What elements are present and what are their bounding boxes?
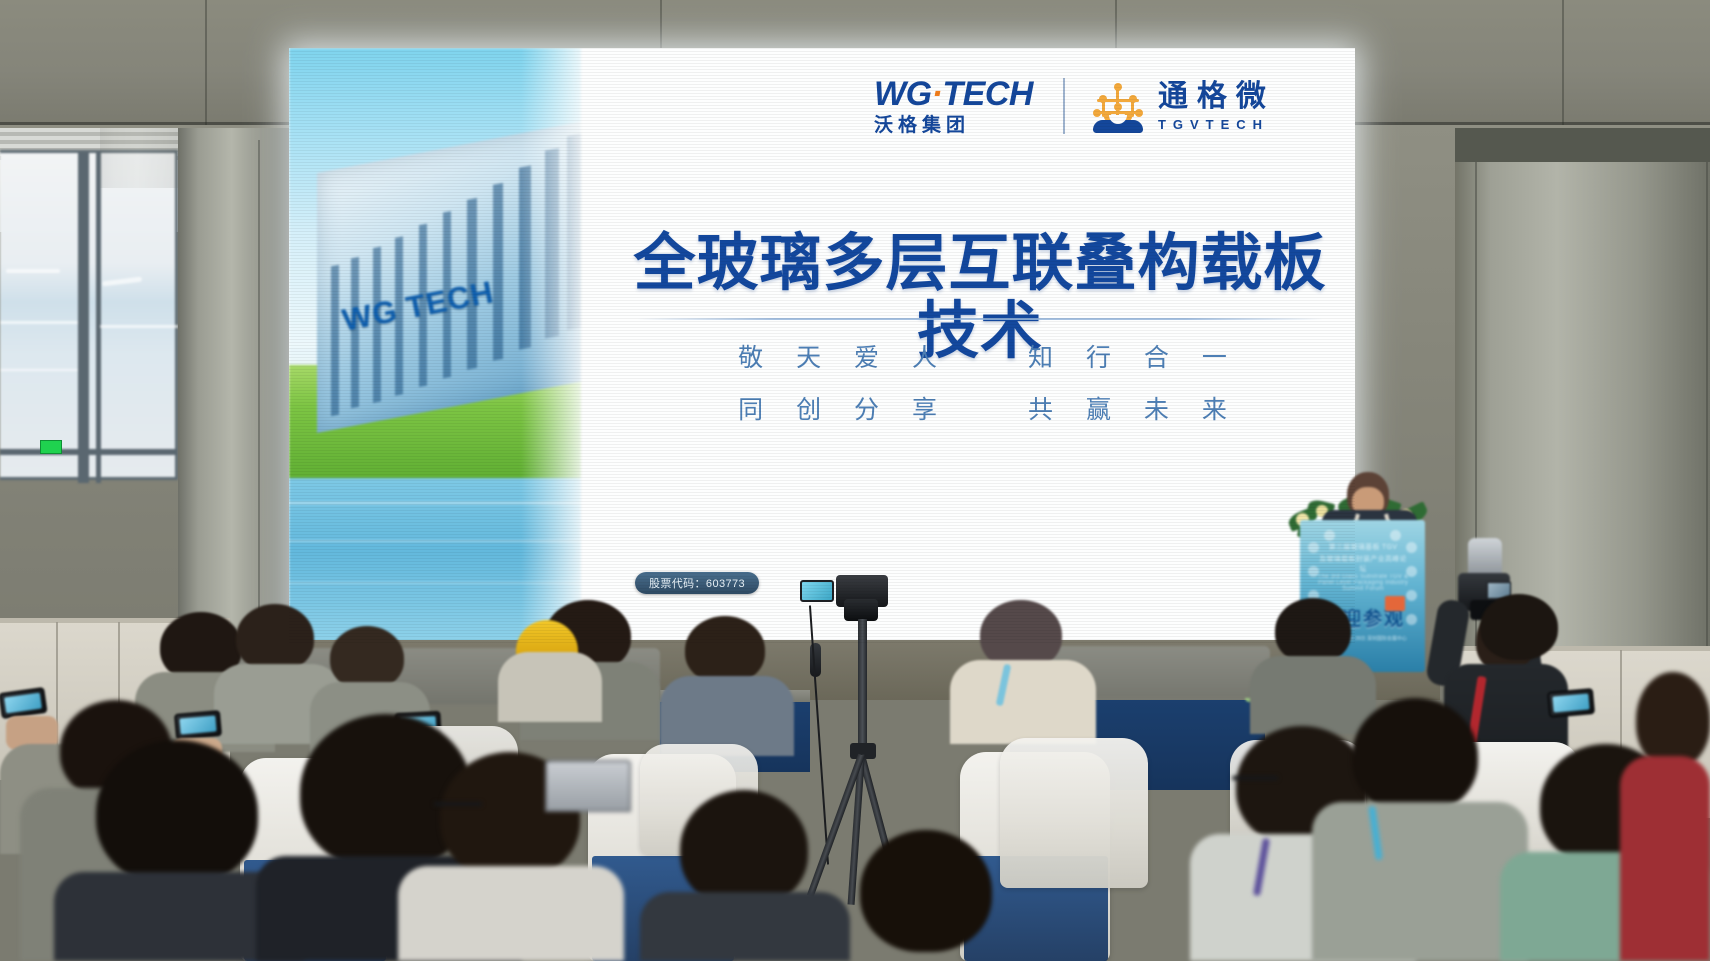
wgtech-logo-cn: 沃格集团 — [874, 116, 970, 135]
audience-head — [330, 626, 404, 690]
slogan-text: 同 创 分 享 — [738, 390, 950, 426]
audience-head-front — [96, 740, 258, 886]
tgvtech-logo-cn: 通格微 — [1158, 82, 1275, 112]
wall-seam — [1562, 0, 1564, 128]
podium-badge — [1385, 596, 1405, 611]
audience-torso-front — [640, 892, 850, 961]
tgvtech-mark-icon — [1091, 79, 1145, 133]
audience-head-front — [1352, 698, 1478, 814]
slogan-row: 敬 天 爱 人 知 行 合 一 — [689, 338, 1289, 374]
slide-logo-bar: WG·TECH 沃格集团 — [874, 66, 1344, 146]
camera-flash — [1468, 538, 1502, 576]
pillar-seam — [1706, 160, 1708, 650]
window-reflection — [102, 277, 142, 287]
slogan-row: 同 创 分 享 共 赢 未 来 — [689, 390, 1289, 426]
led-video-wall: WG TECH WG·TECH 沃格集团 — [289, 48, 1355, 643]
window-reflection — [100, 325, 178, 328]
window-mullion — [78, 153, 89, 483]
podium-sign-en2: Panel Level Packaging Industry Summit Fo… — [1317, 580, 1409, 592]
pillar-seam — [258, 140, 260, 640]
audience-head — [1480, 594, 1558, 660]
wgtech-logo: WG·TECH 沃格集团 — [874, 77, 1033, 135]
chair — [1000, 738, 1148, 888]
window-reflection — [6, 269, 60, 273]
audience-head-front — [680, 790, 808, 908]
camcorder-lens-icon — [844, 599, 878, 621]
audience-head-front — [860, 830, 992, 952]
photo-fade-mask — [521, 48, 581, 643]
audience-head — [236, 604, 314, 672]
slogan-text: 敬 天 爱 人 — [738, 338, 950, 374]
slogan-text: 共 赢 未 来 — [1028, 390, 1240, 426]
window-rail — [0, 449, 178, 455]
pillar — [100, 128, 178, 188]
audience-torso-front — [398, 866, 624, 961]
podium-sign-line1: 第三届玻璃基板 TGV — [1329, 542, 1398, 552]
slide-building-photo: WG TECH — [289, 48, 581, 643]
eyeglasses — [434, 802, 482, 806]
audience-torso — [950, 660, 1096, 744]
stock-code-badge: 股票代码：603773 — [635, 572, 759, 594]
window-glazing — [0, 150, 178, 480]
audience-head — [1275, 598, 1351, 664]
tgvtech-logo: 通格微 TGVTECH — [1091, 79, 1275, 133]
podium-sign-line2: 及玻璃载板封装产业高峰论坛 — [1317, 554, 1409, 574]
exit-sign-icon — [40, 440, 62, 454]
slide-slogans: 敬 天 爱 人 知 行 合 一 同 创 分 享 共 赢 未 来 — [689, 338, 1289, 426]
slide-divider — [637, 318, 1323, 320]
camcorder-flip-screen — [800, 580, 834, 602]
smartphone — [174, 710, 222, 740]
audience-torso — [498, 652, 602, 722]
laptop — [545, 760, 631, 812]
tgvtech-logo-en: TGVTECH — [1158, 118, 1275, 131]
wgtech-dot: · — [932, 75, 943, 113]
wall-seam — [205, 0, 207, 128]
smartphone — [1547, 688, 1595, 718]
eyeglasses — [1232, 776, 1278, 780]
pillar-header — [1455, 128, 1710, 162]
slogan-text: 知 行 合 一 — [1028, 338, 1240, 374]
window-reflection — [0, 321, 78, 324]
window-reflection — [0, 369, 78, 371]
conference-photo-scene: WG TECH WG·TECH 沃格集团 — [0, 0, 1710, 961]
pillar-left — [178, 128, 290, 648]
audience-torso — [1250, 656, 1376, 734]
audience-torso-front — [1312, 802, 1528, 961]
wgtech-logo-en: WG·TECH — [874, 77, 1033, 111]
window-mullion — [96, 153, 101, 483]
wgtech-wg: WG — [874, 75, 932, 113]
audience-torso-front — [1620, 756, 1710, 961]
tripod-column — [858, 619, 867, 749]
audience-head-front — [1636, 672, 1710, 768]
logo-divider — [1063, 78, 1065, 134]
audience-head — [685, 616, 765, 684]
wgtech-tech: TECH — [942, 75, 1033, 113]
